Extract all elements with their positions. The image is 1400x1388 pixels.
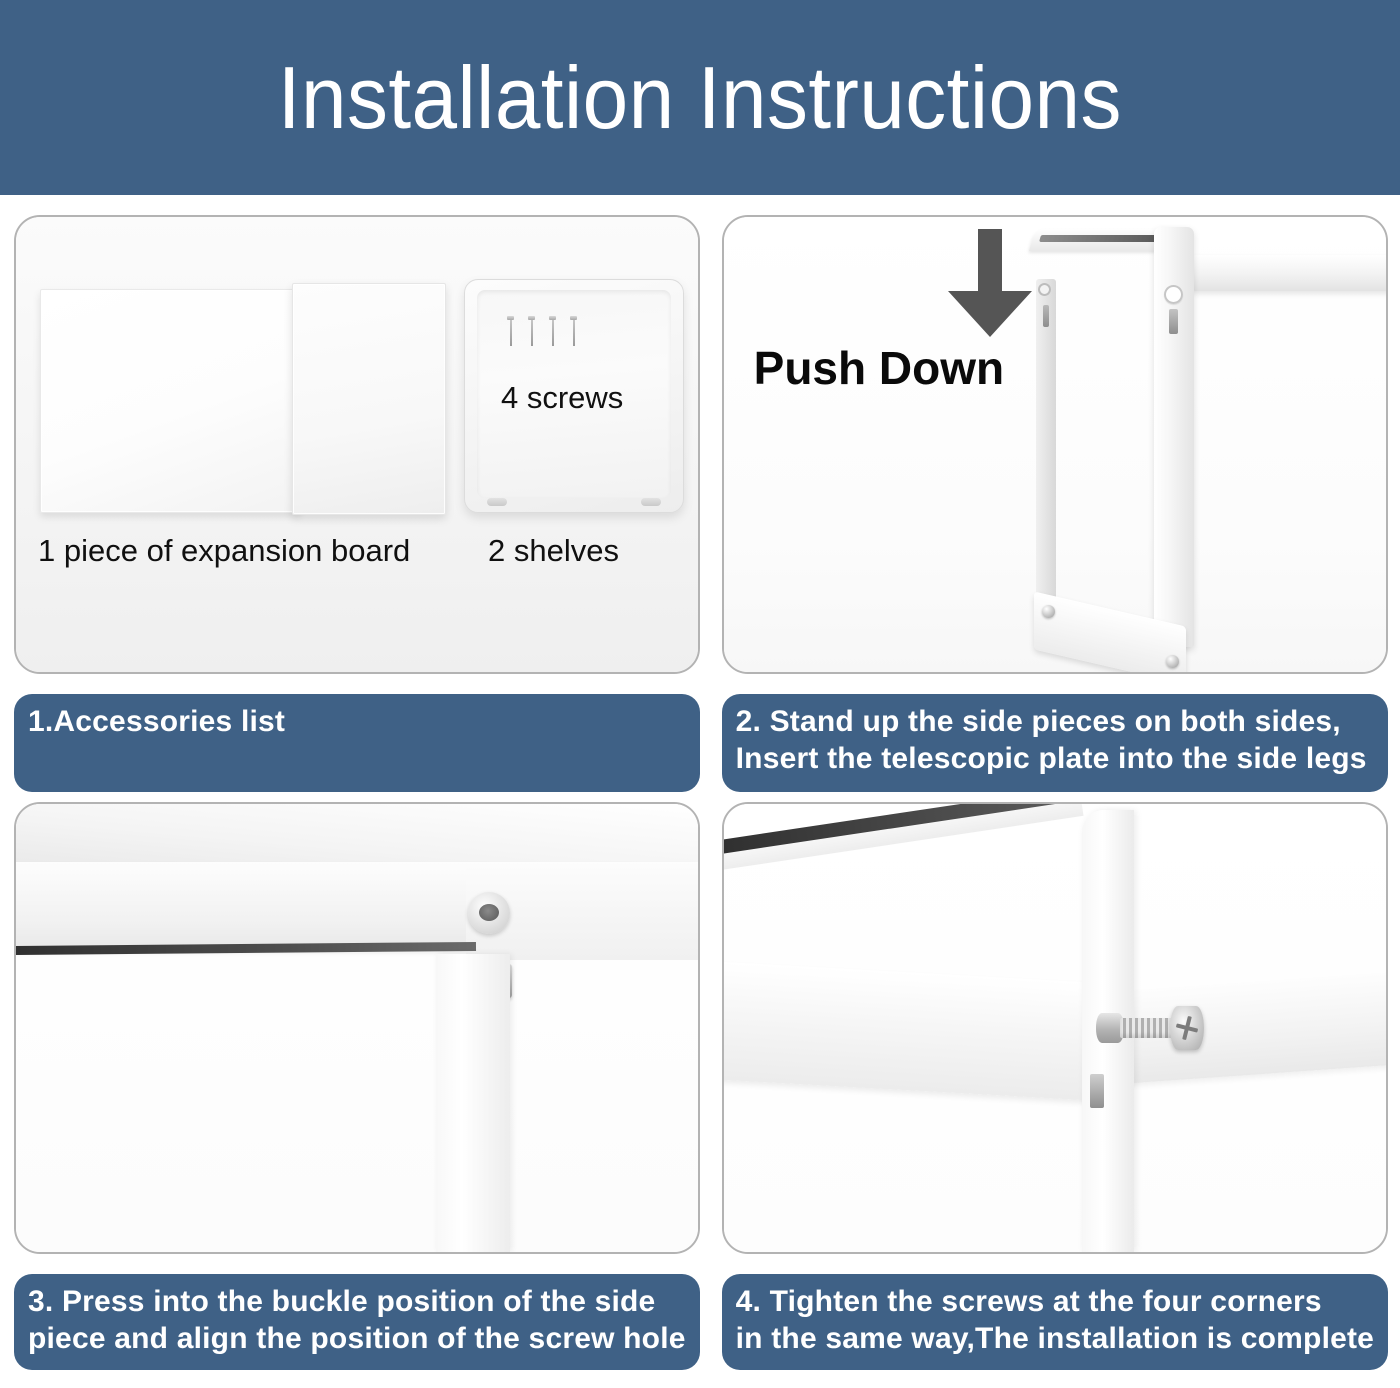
step-2-caption-line-2: Insert the telescopic plate into the sid… [736, 741, 1374, 778]
step-1-image-panel: 4 screws 1 piece of expansion board 2 sh… [14, 215, 700, 674]
push-down-label: Push Down [754, 341, 1004, 395]
shelf-top-surface [14, 804, 700, 868]
step-4-image-panel [722, 802, 1388, 1254]
page-title: Installation Instructions [278, 54, 1122, 142]
side-leg-screw-hole-rear [1038, 283, 1051, 296]
side-leg-frame-illustration [1024, 217, 1386, 672]
step-3-image-panel [14, 802, 700, 1254]
shelves-label: 2 shelves [488, 533, 619, 569]
screw-thread-shaft [1120, 1018, 1176, 1038]
step-1-caption-line-1: 1.Accessories list [28, 704, 686, 741]
step-2-caption-line-1: 2. Stand up the side pieces on both side… [736, 704, 1374, 741]
tray-foot-left [487, 498, 507, 506]
telescopic-plate-bar [1192, 255, 1388, 291]
step-4-caption-line-1: 4. Tighten the screws at the four corner… [736, 1284, 1374, 1321]
expansion-board-slide-panel [292, 283, 446, 515]
page-header: Installation Instructions [0, 0, 1400, 195]
step-1-caption: 1.Accessories list [14, 694, 700, 792]
lower-shelf-left-section [722, 961, 1092, 1100]
step-3-caption: 3. Press into the buckle position of the… [14, 1274, 700, 1370]
step-3: 3. Press into the buckle position of the… [14, 802, 700, 1370]
step-3-caption-line-2: piece and align the position of the scre… [28, 1321, 686, 1358]
leg-buckle-slot [1090, 1074, 1104, 1108]
step-2-caption: 2. Stand up the side pieces on both side… [722, 694, 1388, 792]
screw-icon [528, 316, 535, 346]
screw-hole [468, 892, 510, 934]
expansion-board-label: 1 piece of expansion board [38, 533, 410, 569]
expansion-board-illustration [40, 283, 450, 515]
side-leg-post [436, 954, 510, 1252]
buckle-closeup-artwork [16, 804, 698, 1252]
foot-screw-lower [1166, 655, 1179, 668]
expansion-board-main-panel [40, 289, 300, 513]
step-4-caption-line-2: in the same way,The installation is comp… [736, 1321, 1374, 1358]
step-2: Push Down 2. Stand up the [722, 215, 1388, 792]
side-leg-buckle-slot-front [1169, 309, 1178, 334]
side-leg-screw-hole-front [1164, 285, 1183, 304]
step-2-image-panel: Push Down [722, 215, 1388, 674]
steps-grid: 4 screws 1 piece of expansion board 2 sh… [0, 195, 1400, 1370]
side-leg-rear-post [1036, 279, 1056, 611]
foot-screw-upper [1042, 605, 1055, 618]
screw-icon [549, 316, 556, 346]
screw-icon [507, 316, 514, 346]
step-1: 4 screws 1 piece of expansion board 2 sh… [14, 215, 700, 792]
side-leg-buckle-slot-rear [1043, 305, 1049, 327]
screw-icon [570, 316, 577, 346]
step-4-caption: 4. Tighten the screws at the four corner… [722, 1274, 1388, 1370]
screws-count-label: 4 screws [501, 380, 623, 416]
step-4: 4. Tighten the screws at the four corner… [722, 802, 1388, 1370]
push-down-artwork: Push Down [724, 217, 1386, 672]
screw-tightening-artwork [724, 804, 1386, 1252]
shelf-tray-illustration: 4 screws [464, 279, 684, 513]
step-3-caption-line-1: 3. Press into the buckle position of the… [28, 1284, 686, 1321]
parts-labels-row: 1 piece of expansion board 2 shelves [16, 533, 698, 573]
screw-illustration [1096, 1004, 1216, 1052]
side-leg-top-lip-shadow [1039, 235, 1159, 242]
screws-group [507, 316, 577, 346]
tray-foot-right [641, 498, 661, 506]
accessories-artwork: 4 screws 1 piece of expansion board 2 sh… [16, 217, 698, 672]
